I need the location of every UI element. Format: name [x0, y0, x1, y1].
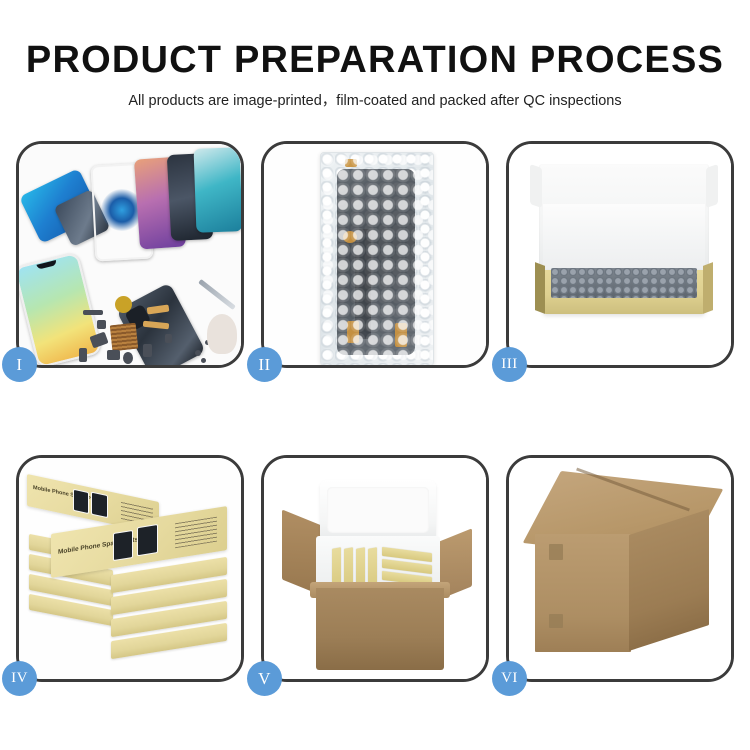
hand	[207, 314, 237, 354]
box-phone-window-front-1	[113, 530, 133, 561]
panel-6-photo	[509, 458, 731, 679]
process-panel-1: I	[16, 141, 244, 368]
process-panel-5: V	[261, 455, 489, 682]
foam-sheet	[543, 204, 705, 272]
scene-open-carton	[264, 458, 486, 679]
tray-left-face	[535, 262, 545, 314]
scene-phone-parts	[19, 144, 241, 365]
panel-4-photo: Mobile Phone Spare Parts Mobile Phone Sp…	[19, 458, 241, 679]
scene-sealed-carton	[509, 458, 731, 679]
box-phone-window-front-2	[137, 524, 158, 556]
carton-tape-upper	[549, 544, 563, 560]
small-part-7	[97, 320, 106, 329]
panel-badge-5: V	[247, 661, 282, 696]
phone-screen-teal	[194, 147, 241, 233]
tweezers-tool	[198, 279, 236, 310]
small-part-3	[79, 348, 87, 362]
tape-middle	[343, 231, 357, 243]
header: PRODUCT PREPARATION PROCESS All products…	[0, 38, 750, 111]
carton-body	[316, 588, 444, 670]
tape-bottom-left	[347, 321, 359, 343]
small-part-8	[165, 334, 172, 343]
tape-top	[345, 159, 357, 167]
scene-bubble-wrap	[264, 144, 486, 365]
bubble-wrap-bag	[320, 152, 434, 365]
panel-badge-4: IV	[2, 661, 37, 696]
panel-2-photo	[264, 144, 486, 365]
panel-badge-6: VI	[492, 661, 527, 696]
small-part-1	[83, 310, 103, 315]
scene-box-stack: Mobile Phone Spare Parts Mobile Phone Sp…	[19, 458, 241, 679]
panel-5-photo	[264, 458, 486, 679]
process-panel-grid: I II	[16, 141, 734, 689]
phone-notch	[36, 260, 57, 270]
box-phone-window-rear-2	[91, 492, 108, 519]
page-subtitle: All products are image-printed，film-coat…	[0, 91, 750, 111]
process-panel-4: Mobile Phone Spare Parts Mobile Phone Sp…	[16, 455, 244, 682]
page-title: PRODUCT PREPARATION PROCESS	[0, 38, 750, 82]
process-panel-3: III	[506, 141, 734, 368]
panel-badge-1: I	[2, 347, 37, 382]
foam-lid-open	[320, 480, 436, 542]
small-part-4	[107, 350, 120, 360]
carton-side-face	[629, 509, 709, 651]
phone-screen-large	[19, 252, 103, 365]
process-panel-2: II	[261, 141, 489, 368]
panel-3-photo	[509, 144, 731, 365]
panel-badge-2: II	[247, 347, 282, 382]
tray-right-face	[703, 262, 713, 314]
tape-bottom-right	[395, 323, 407, 347]
page-root: PRODUCT PREPARATION PROCESS All products…	[0, 0, 750, 750]
scene-open-yellow-box	[509, 144, 731, 365]
panel-1-photo	[19, 144, 241, 365]
panel-badge-3: III	[492, 347, 527, 382]
speaker-part	[115, 296, 132, 313]
screw-1	[195, 350, 201, 356]
small-part-5	[123, 352, 133, 364]
box-phone-window-rear-1	[73, 489, 89, 514]
carton-tape-lower	[549, 614, 563, 628]
box-spec-lines-front	[175, 517, 217, 549]
chip-grid-part	[110, 323, 139, 352]
small-part-6	[143, 344, 152, 357]
screw-3	[201, 358, 206, 363]
process-panel-6: VI	[506, 455, 734, 682]
bubble-wrapped-contents	[551, 268, 697, 298]
